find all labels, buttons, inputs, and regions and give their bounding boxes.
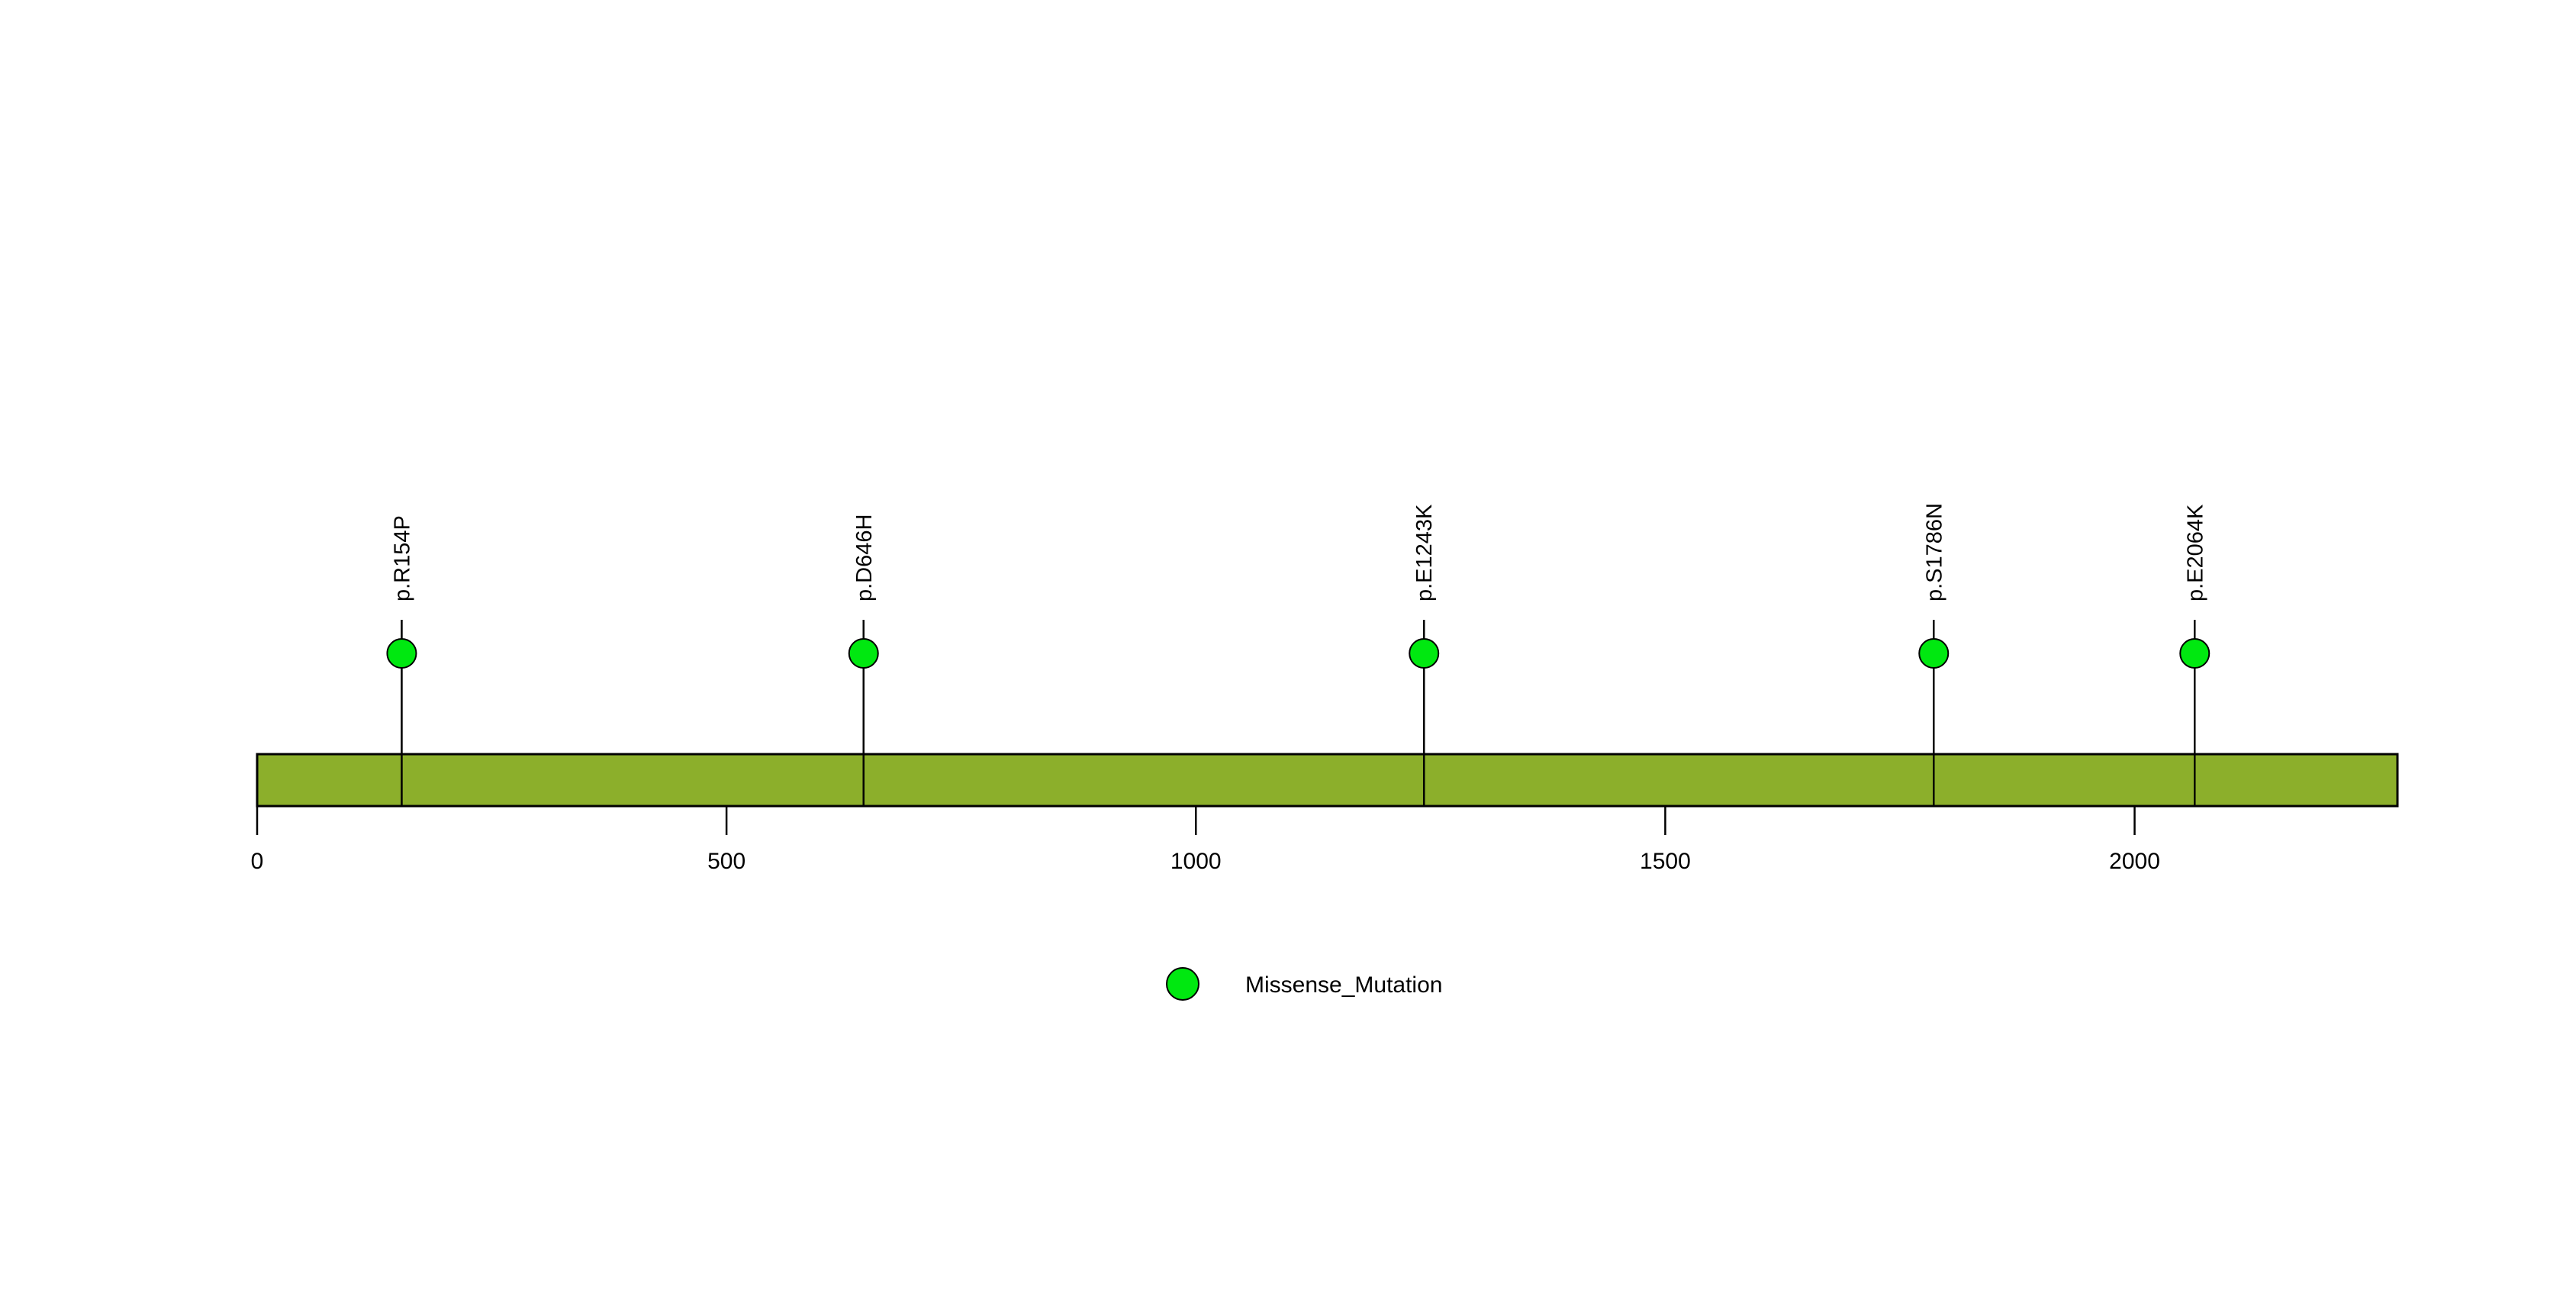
lollipop-plot-canvas: p.R154Pp.D646Hp.E1243Kp.S1786Np.E2064K 0… bbox=[0, 0, 2576, 1290]
x-axis-tick-label: 0 bbox=[251, 849, 264, 874]
x-axis-tick-label: 1000 bbox=[1170, 849, 1222, 874]
mutation-label: p.E1243K bbox=[1412, 504, 1437, 601]
mutation-label: p.S1786N bbox=[1922, 503, 1946, 601]
legend-label-missense-mutation: Missense_Mutation bbox=[1245, 972, 1442, 998]
mutation-marker[interactable] bbox=[2180, 639, 2209, 668]
mutation-marker[interactable] bbox=[387, 639, 416, 668]
x-axis-tick-label: 2000 bbox=[2109, 849, 2160, 874]
mutation-marker[interactable] bbox=[849, 639, 878, 668]
mutation-marker[interactable] bbox=[1409, 639, 1438, 668]
mutation-label: p.R154P bbox=[390, 515, 414, 601]
mutation-marker[interactable] bbox=[1919, 639, 1948, 668]
protein-backbone-bar bbox=[257, 754, 2397, 806]
mutation-label: p.E2064K bbox=[2183, 504, 2207, 601]
mutation-label: p.D646H bbox=[852, 514, 877, 601]
x-axis-tick-label: 1500 bbox=[1640, 849, 1691, 874]
protein-bar-layer bbox=[257, 754, 2397, 806]
legend-marker-missense-mutation bbox=[1167, 968, 1199, 1000]
x-axis-tick-label: 500 bbox=[707, 849, 745, 874]
lollipop-plot-svg: p.R154Pp.D646Hp.E1243Kp.S1786Np.E2064K 0… bbox=[0, 0, 2576, 1290]
